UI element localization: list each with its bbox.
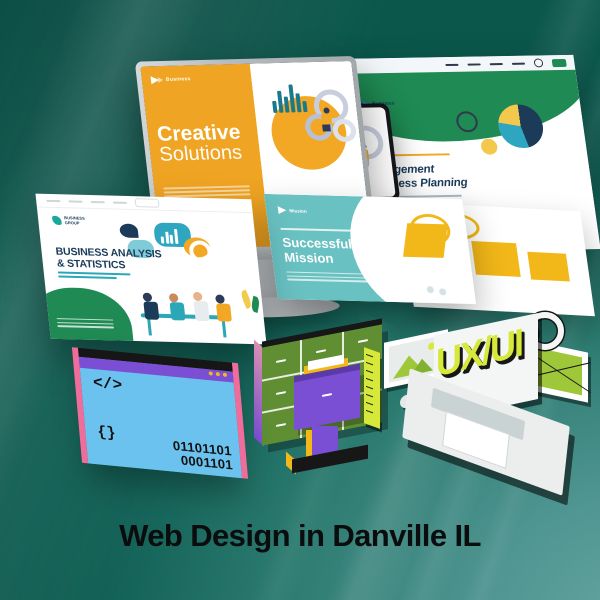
window-controls[interactable] — [209, 371, 228, 377]
window-dot[interactable] — [216, 372, 220, 376]
desk-leg — [147, 317, 152, 335]
bar-chart-graphic — [270, 84, 307, 113]
yellow-shape — [403, 223, 448, 258]
person-figure — [215, 294, 232, 321]
logo-mark-icon — [52, 216, 62, 225]
card-logo-line2: GROUP — [64, 220, 79, 225]
code-window-frame: </> {} 01101101 0001101 — [78, 348, 242, 478]
mission-paragraph — [286, 272, 372, 285]
nav-link[interactable] — [68, 200, 82, 202]
dot-graphic — [426, 286, 434, 293]
search-icon[interactable] — [533, 58, 543, 67]
clock-icon — [455, 111, 479, 132]
mission-logo-text: Mission — [289, 208, 307, 213]
person-figure — [193, 292, 210, 321]
nav-link[interactable] — [113, 201, 127, 203]
person-figure — [142, 293, 159, 320]
uxui-laptop-graphic: UX/UI — [392, 318, 582, 484]
dot-graphic — [439, 288, 447, 295]
browser-cta-button[interactable] — [552, 58, 567, 66]
lightbulb-icon — [480, 139, 498, 155]
code-window-graphic: </> {} 01101101 0001101 — [78, 348, 242, 478]
mission-illustration — [364, 206, 469, 300]
card-cta-button[interactable] — [135, 198, 160, 208]
card-logo-text: BUSINESS GROUP — [64, 216, 86, 225]
site-heading: Creative Solutions — [156, 122, 244, 166]
plant-graphic — [242, 290, 253, 324]
site-heading-line2: Solutions — [158, 143, 243, 165]
pie-chart-graphic — [495, 104, 545, 148]
mission-heading: Successful Mission — [282, 236, 355, 267]
code-tag-icon: </> — [92, 374, 123, 395]
paper-accent-block — [471, 241, 520, 277]
hero-graphic: Business Management Business Planning — [0, 0, 600, 600]
binary-line-2: 0001101 — [174, 453, 234, 473]
mission-card-mockup: Mission Successful Mission — [264, 194, 476, 304]
logo-triangle-icon — [158, 77, 164, 83]
nav-link[interactable] — [467, 63, 480, 65]
card-subtext — [58, 272, 131, 282]
card-logo: BUSINESS GROUP — [52, 216, 86, 226]
speech-bubble-graphic — [119, 224, 139, 238]
site-logo: Business — [151, 74, 243, 84]
mission-logo: Mission — [278, 206, 307, 215]
nav-link[interactable] — [445, 63, 458, 65]
business-analysis-card-mockup: BUSINESS GROUP BUSINESS ANALYSIS & STATI… — [35, 194, 266, 345]
nav-link[interactable] — [512, 62, 525, 64]
window-dot[interactable] — [223, 373, 227, 377]
nav-link[interactable] — [46, 199, 60, 201]
nav-link[interactable] — [91, 200, 105, 202]
site-logo-text: Business — [166, 76, 191, 83]
paper-accent-block — [527, 252, 570, 282]
desk-leg — [222, 319, 227, 337]
green-blob-shape — [35, 286, 136, 344]
mission-heading-line2: Mission — [283, 251, 354, 268]
running-person-figure — [320, 107, 337, 129]
logo-triangle-icon — [278, 206, 287, 214]
person-figure — [169, 293, 186, 320]
card-heading: BUSINESS ANALYSIS & STATISTICS — [55, 246, 163, 273]
blob-paragraph — [57, 318, 115, 330]
card-heading-line2: & STATISTICS — [56, 258, 163, 273]
binary-text: 01101101 0001101 — [172, 439, 233, 474]
nav-link[interactable] — [490, 63, 503, 65]
page-title: Web Design in Danville IL — [0, 518, 600, 554]
window-dot[interactable] — [209, 371, 213, 375]
code-brace-icon: {} — [97, 424, 117, 443]
bar-chart-graphic — [160, 229, 178, 244]
ruler-icon — [364, 347, 380, 429]
card-illustration — [118, 218, 259, 339]
